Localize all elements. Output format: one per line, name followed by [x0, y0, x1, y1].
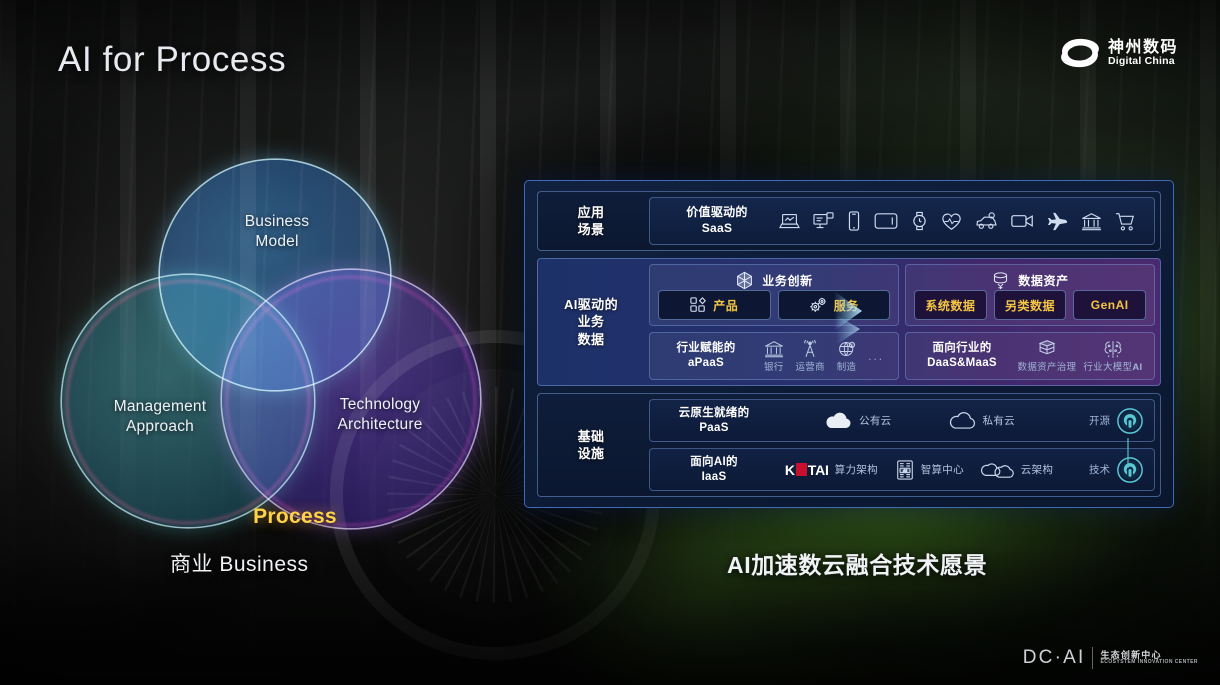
data-layers-icon [1036, 339, 1058, 358]
brain-circuit-icon [1102, 339, 1124, 358]
venn-label-technology-line1: Technology [300, 395, 460, 415]
card-title-saas-line2: SaaS [662, 221, 772, 237]
band-label-infra-line2: 设施 [578, 445, 605, 462]
pill-label-genai: GenAI [1091, 298, 1129, 312]
tv-screen-icon[interactable] [874, 212, 898, 230]
apaas-item-operator[interactable]: 运营商 [795, 340, 824, 373]
card-cloud-native-paas[interactable]: 云原生就绪的 PaaS 公有云 私有云 [649, 399, 1155, 442]
card-head-data-assets: 数据资产 [914, 271, 1146, 290]
architecture-panel: 应用 场景 价值驱动的 SaaS [524, 180, 1174, 508]
infra-item-private-cloud[interactable]: 私有云 [947, 411, 1015, 431]
apaas-item-bank[interactable]: 银行 [764, 340, 784, 373]
airplane-icon[interactable] [1047, 212, 1068, 231]
cube-cluster-icon [735, 271, 754, 290]
caption-business: 商业 Business [170, 548, 309, 578]
infra-label-ai-compute-center: 智算中心 [921, 462, 964, 477]
daas-label-data-governance: 数据资产治理 [1018, 359, 1077, 373]
brand-name-cn: 神州数码 [1108, 39, 1178, 56]
infra-end-technology: 技术 [1070, 456, 1144, 484]
kutai-logo: K TAI [785, 462, 829, 478]
brand-name-en: Digital China [1108, 56, 1178, 67]
svg-text:AI: AI [903, 468, 907, 473]
band-infrastructure: 基础 设施 云原生就绪的 PaaS 公有云 [537, 393, 1161, 497]
band-body-application: 价值驱动的 SaaS [644, 192, 1160, 250]
pill-system-data[interactable]: 系统数据 [914, 290, 987, 320]
infra-item-computing-architecture[interactable]: K TAI 算力架构 [785, 462, 878, 478]
band-ai-driven-business-data: AI驱动的 业务 数据 业务创新 [537, 258, 1161, 386]
pill-genai[interactable]: GenAI [1073, 290, 1146, 320]
infra-end-label-open-source: 开源 [1089, 413, 1110, 428]
laptop-chart-icon[interactable] [779, 212, 800, 231]
daas-item-data-governance[interactable]: 数据资产治理 [1018, 339, 1077, 373]
band-label-application-line2: 场景 [578, 221, 605, 238]
card-head-business-innovation: 业务创新 [658, 271, 890, 290]
infra-label-cloud-architecture: 云架构 [1021, 462, 1053, 477]
card-title-paas: 云原生就绪的 PaaS [660, 406, 768, 435]
card-head-text-data-assets: 数据资产 [1018, 272, 1068, 289]
apaas-item-manufacturing[interactable]: 制造 [837, 340, 857, 373]
card-title-apaas-line1: 行业赋能的 [658, 341, 754, 356]
card-data-assets[interactable]: 数据资产 系统数据 另类数据 GenAI [905, 264, 1155, 326]
infra-label-public-cloud: 公有云 [859, 413, 891, 428]
band-label-ai-line2: 业务 [564, 313, 618, 330]
card-daas-maas[interactable]: 面向行业的 DaaS&MaaS 数据资产治理 行业大模型A [905, 332, 1155, 380]
venn-diagram: Business Model Management Approach Techn… [62, 160, 482, 520]
infra-item-public-cloud[interactable]: 公有云 [823, 411, 891, 431]
infra-label-computing-architecture: 算力架构 [835, 462, 878, 477]
band-label-infra-line1: 基础 [578, 428, 605, 445]
red-square-mark [796, 463, 807, 476]
paas-row-apaas: 行业赋能的 aPaaS 银行 运营商 [658, 339, 890, 373]
band-label-ai-data: AI驱动的 业务 数据 [538, 259, 644, 385]
open-source-circle-icon[interactable] [1116, 456, 1144, 484]
ai-column-business-innovation: 业务创新 产品 服务 [649, 264, 899, 380]
apaas-item-row: 银行 运营商 制造 ... [758, 340, 890, 373]
apaas-label-operator: 运营商 [795, 359, 824, 373]
iaas-item-row: K TAI 算力架构 AI 智算中心 [768, 459, 1070, 481]
daas-item-industry-model[interactable]: 行业大模型AI [1083, 339, 1142, 373]
pill-service[interactable]: 服务 [778, 290, 891, 320]
card-industry-apaas[interactable]: 行业赋能的 aPaaS 银行 运营商 [649, 332, 899, 380]
gear-globe-icon [837, 340, 857, 358]
galaxy-spiral-icon [1061, 36, 1099, 70]
card-title-iaas-line1: 面向AI的 [660, 455, 768, 470]
smartwatch-icon[interactable] [911, 211, 928, 231]
ai-server-rack-icon: AI [895, 459, 915, 481]
brand-logo: 神州数码 Digital China [1061, 36, 1178, 70]
database-yen-icon [991, 271, 1010, 290]
venn-label-technology-line2: Architecture [300, 415, 460, 435]
page-title: AI for Process [58, 40, 286, 80]
card-ai-iaas[interactable]: 面向AI的 IaaS K TAI 算力架构 [649, 448, 1155, 491]
video-camera-icon[interactable] [1011, 213, 1034, 229]
venn-circle-business[interactable] [160, 160, 390, 390]
pill-label-service: 服务 [834, 297, 859, 314]
daas-label-industry-model-ai: AI [1132, 362, 1142, 373]
band-label-ai-line3: 数据 [564, 331, 618, 348]
infra-item-ai-compute-center[interactable]: AI 智算中心 [895, 459, 964, 481]
band-body-ai-data: 业务创新 产品 服务 [644, 259, 1160, 385]
card-value-driven-saas[interactable]: 价值驱动的 SaaS [649, 197, 1155, 245]
paas-item-row: 公有云 私有云 [768, 411, 1070, 431]
slide-root: AI for Process 神州数码 Digital China Busine… [0, 0, 1220, 685]
pill-product[interactable]: 产品 [658, 290, 771, 320]
card-title-saas-line1: 价值驱动的 [662, 205, 772, 221]
card-title-daas-line2: DaaS&MaaS [914, 356, 1010, 371]
band-label-application: 应用 场景 [538, 192, 644, 250]
venn-label-technology: Technology Architecture [300, 395, 460, 435]
card-title-paas-line2: PaaS [660, 421, 768, 436]
daas-item-row: 数据资产治理 行业大模型AI [1014, 339, 1146, 373]
pill-alternative-data[interactable]: 另类数据 [994, 290, 1067, 320]
band-body-infrastructure: 云原生就绪的 PaaS 公有云 私有云 [644, 394, 1160, 496]
kutai-logo-pre: K [785, 462, 795, 478]
daas-label-industry-model-text: 行业大模型 [1083, 362, 1132, 373]
infra-item-cloud-architecture[interactable]: 云架构 [981, 460, 1053, 480]
blocks-icon [690, 297, 706, 313]
card-business-innovation[interactable]: 业务创新 产品 服务 [649, 264, 899, 326]
caption-ai-vision: AI加速数云融合技术愿景 [727, 546, 987, 580]
ai-column-data-assets: 数据资产 系统数据 另类数据 GenAI 面向行业的 DaaS&MaaS [905, 264, 1155, 380]
infrastructure-rows: 云原生就绪的 PaaS 公有云 私有云 [649, 399, 1155, 491]
infra-connector-line [1127, 438, 1129, 468]
pill-label-system-data: 系统数据 [925, 297, 975, 314]
application-icon-row [772, 211, 1142, 231]
card-title-daas-maas: 面向行业的 DaaS&MaaS [914, 341, 1010, 370]
open-source-circle-icon[interactable] [1116, 407, 1144, 435]
venn-label-management: Management Approach [84, 397, 236, 437]
band-label-application-line1: 应用 [578, 204, 605, 221]
infra-end-label-technology: 技术 [1089, 462, 1110, 477]
antenna-tower-icon [800, 340, 820, 358]
pill-label-alternative-data: 另类数据 [1005, 297, 1055, 314]
gears-icon [809, 297, 827, 313]
card-title-apaas: 行业赋能的 aPaaS [658, 341, 754, 370]
desktop-monitor-icon[interactable] [813, 212, 834, 231]
pill-row-business-innovation: 产品 服务 [658, 290, 890, 320]
apaas-label-manufacturing: 制造 [837, 359, 857, 373]
cloud-multi-icon [981, 460, 1015, 480]
heartbeat-icon[interactable] [941, 212, 962, 231]
paas-row-daas-maas: 面向行业的 DaaS&MaaS 数据资产治理 行业大模型A [914, 339, 1146, 373]
cloud-outline-icon [947, 411, 977, 431]
card-title-apaas-line2: aPaaS [658, 356, 754, 371]
venn-label-management-line2: Approach [84, 417, 236, 437]
venn-label-business-line1: Business [218, 212, 336, 232]
smartphone-icon[interactable] [847, 211, 861, 231]
kutai-logo-post: TAI [808, 462, 829, 478]
card-title-saas: 价值驱动的 SaaS [662, 205, 772, 236]
footer-divider [1092, 647, 1093, 669]
card-title-paas-line1: 云原生就绪的 [660, 406, 768, 421]
venn-label-business-line2: Model [218, 232, 336, 252]
card-head-text-business-innovation: 业务创新 [762, 272, 812, 289]
apaas-label-bank: 银行 [764, 359, 784, 373]
venn-center-label: Process [230, 505, 360, 529]
footer-center-en: ECOSYSTEM INNOVATION CENTER [1100, 660, 1198, 666]
band-application-scenarios: 应用 场景 价值驱动的 SaaS [537, 191, 1161, 251]
card-title-iaas: 面向AI的 IaaS [660, 455, 768, 484]
bank-icon [764, 340, 784, 358]
infra-end-open-source: 开源 [1070, 407, 1144, 435]
footer-dc-ai: DC·AI [1023, 647, 1086, 669]
cloud-filled-icon [823, 411, 853, 431]
shopping-cart-icon[interactable] [1115, 212, 1136, 231]
car-icon[interactable] [975, 212, 998, 231]
band-label-infrastructure: 基础 设施 [538, 394, 644, 496]
footer-logo: DC·AI 生态创新中心 ECOSYSTEM INNOVATION CENTER [1023, 647, 1198, 669]
bank-icon[interactable] [1081, 212, 1102, 231]
band-label-ai-line1: AI驱动的 [564, 296, 618, 313]
apaas-more-dots: ... [868, 349, 884, 363]
daas-label-industry-model: 行业大模型AI [1083, 359, 1142, 373]
infra-label-private-cloud: 私有云 [983, 413, 1015, 428]
venn-label-business: Business Model [218, 212, 336, 252]
pill-row-data-assets: 系统数据 另类数据 GenAI [914, 290, 1146, 320]
pill-label-product: 产品 [713, 297, 738, 314]
venn-label-management-line1: Management [84, 397, 236, 417]
card-title-iaas-line2: IaaS [660, 470, 768, 485]
card-title-daas-line1: 面向行业的 [914, 341, 1010, 356]
